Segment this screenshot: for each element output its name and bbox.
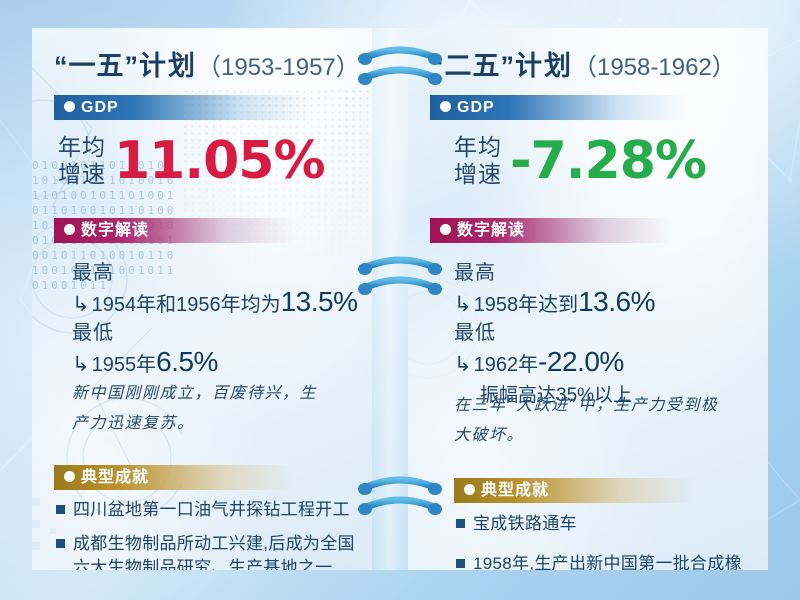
stat-highest: 最高 ↳ 1958年达到 13.6% (454, 256, 655, 318)
gdp-label-line2: 增速 (454, 161, 502, 188)
gdp-ribbon-label: GDP (81, 99, 119, 116)
stat-lowest-value: 6.5% (156, 346, 218, 378)
infographic-canvas: 0100101101001011010010110100101101001011… (0, 0, 800, 600)
gdp-label-line2: 增速 (58, 161, 106, 188)
stat-highest-prefix: 1958年达到 (474, 288, 579, 317)
bullet-dot-icon (440, 101, 451, 112)
plan-title-quote: “一五” (54, 51, 139, 81)
achievement-text: 四川盆地第一口油气井探钻工程开工 (73, 498, 350, 522)
stat-highest-label: 最高 (72, 256, 358, 285)
page-title: “一五”计划（1953-1957） (54, 44, 360, 83)
stat-lowest: 最低 ↳ 1955年 6.5% (72, 316, 218, 378)
achievement-text: 宝成铁路通车 (473, 512, 577, 536)
gdp-figure: 年均 增速 11.05% (58, 131, 325, 191)
list-item: 1958年,生产出新中国第一批合成橡胶 (456, 552, 756, 570)
plan-title-plan: 计划 (515, 51, 573, 81)
achievement-ribbon: 典型成就 (54, 465, 294, 490)
gdp-label-line1: 年均 (58, 134, 106, 161)
stat-highest-label: 最高 (454, 256, 655, 285)
gdp-label-line1: 年均 (454, 134, 502, 161)
arrow-turn-icon: ↳ (72, 294, 90, 315)
gdp-ribbon: GDP (54, 95, 314, 120)
double-arc-ornament (356, 252, 444, 298)
square-bullet-icon (56, 505, 65, 514)
list-item: 成都生物制品所动工兴建,后成为全国六大生物制品研究、生产基地之一 (56, 532, 366, 570)
arrow-turn-icon: ↳ (454, 354, 472, 375)
bullet-dot-icon (64, 101, 75, 112)
square-bullet-icon (456, 559, 465, 568)
plan-title-years: （1958-1962） (573, 54, 736, 81)
double-arc-ornament (356, 42, 444, 88)
stat-highest-value: 13.5% (281, 286, 358, 318)
gdp-label: 年均 增速 (58, 134, 106, 188)
achievement-ribbon: 典型成就 (454, 478, 694, 503)
plan-title-plan: 计划 (139, 51, 197, 81)
interpretation-ribbon-label: 数字解读 (457, 222, 525, 239)
gdp-value: -7.28% (510, 131, 706, 191)
stat-lowest-prefix: 1955年 (92, 348, 157, 377)
double-arc-ornament (356, 472, 444, 518)
achievement-list: 四川盆地第一口油气井探钻工程开工 成都生物制品所动工兴建,后成为全国六大生物制品… (56, 498, 366, 570)
stat-highest-value: 13.6% (578, 286, 655, 318)
bullet-dot-icon (64, 471, 75, 482)
gdp-figure: 年均 增速 -7.28% (454, 131, 706, 191)
achievement-text: 1958年,生产出新中国第一批合成橡胶 (473, 552, 756, 570)
gdp-value: 11.05% (114, 131, 325, 191)
achievement-ribbon-label: 典型成就 (81, 469, 149, 486)
list-item: 四川盆地第一口油气井探钻工程开工 (56, 498, 366, 522)
list-item: 宝成铁路通车 (456, 512, 756, 536)
gdp-ribbon-label: GDP (457, 99, 495, 116)
commentary-note: 新中国刚刚成立，百废待兴，生产力迅速复苏。 (72, 378, 328, 438)
gdp-label: 年均 增速 (454, 134, 502, 188)
page-title: “二五”计划（1958-1962） (430, 44, 736, 83)
stat-lowest-prefix: 1962年 (474, 348, 539, 377)
square-bullet-icon (456, 519, 465, 528)
achievement-ribbon-label: 典型成就 (481, 482, 549, 499)
stat-highest: 最高 ↳ 1954年和1956年均为 13.5% (72, 256, 358, 318)
achievement-text: 成都生物制品所动工兴建,后成为全国六大生物制品研究、生产基地之一 (73, 532, 366, 570)
gdp-ribbon: GDP (430, 95, 690, 120)
bullet-dot-icon (64, 224, 75, 235)
interpretation-ribbon: 数字解读 (54, 218, 294, 243)
panel-second-five-year-plan: “二五”计划（1958-1962） GDP 年均 增速 -7.28% 数字解读 … (408, 28, 768, 570)
achievement-list: 宝成铁路通车 1958年,生产出新中国第一批合成橡胶 (456, 512, 756, 570)
panel-first-five-year-plan: 0100101101001011010010110100101101001011… (32, 28, 372, 570)
stat-lowest-value: -22.0% (538, 346, 624, 378)
bullet-dot-icon (440, 224, 451, 235)
stat-lowest-label: 最低 (454, 316, 632, 345)
square-bullet-icon (56, 539, 65, 548)
bullet-dot-icon (464, 484, 475, 495)
arrow-turn-icon: ↳ (72, 354, 90, 375)
stat-lowest-label: 最低 (72, 316, 218, 345)
interpretation-ribbon: 数字解读 (430, 218, 670, 243)
commentary-note: 在三年“大跃进”中，生产力受到极大破坏。 (454, 390, 724, 450)
arrow-turn-icon: ↳ (454, 294, 472, 315)
stat-highest-prefix: 1954年和1956年均为 (92, 288, 281, 317)
interpretation-ribbon-label: 数字解读 (81, 222, 149, 239)
plan-title-years: （1953-1957） (197, 54, 360, 81)
